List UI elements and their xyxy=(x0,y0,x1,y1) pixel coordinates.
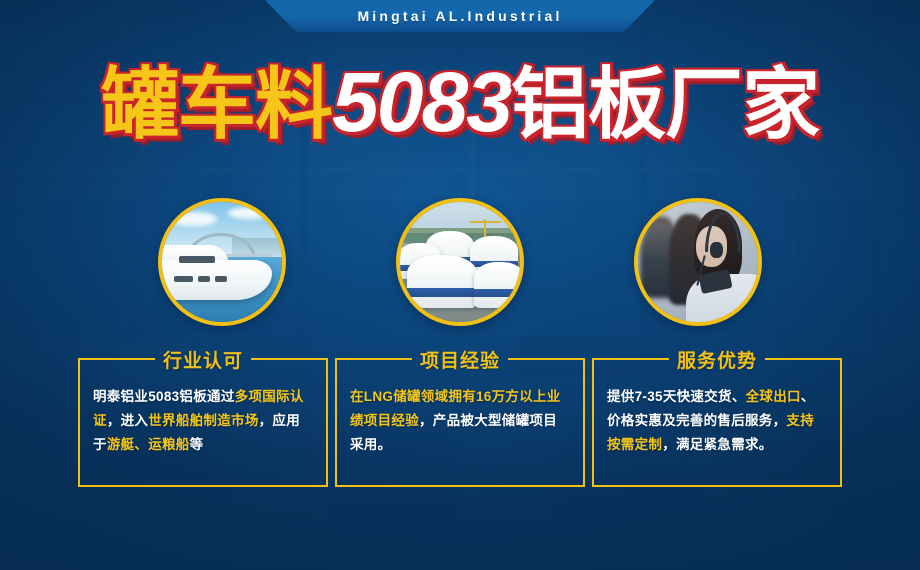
title-segment-gold: 罐车料 xyxy=(101,64,332,144)
yacht-window xyxy=(215,276,227,282)
plain-text: 等 xyxy=(190,437,204,452)
yacht-photo xyxy=(158,198,286,326)
plain-text: ，满足紧急需求。 xyxy=(662,437,772,452)
lng-tank-photo-content xyxy=(400,202,520,322)
rule-left xyxy=(335,358,412,360)
tank-band xyxy=(474,289,524,296)
title-segment-number: 5083 xyxy=(332,62,511,142)
rule-left xyxy=(592,358,669,360)
plain-text: 明泰铝业5083铝板通过 xyxy=(93,389,235,404)
rule-right xyxy=(508,358,585,360)
crane-jib xyxy=(470,221,501,223)
storage-tank xyxy=(407,255,477,308)
card-body: 在LNG储罐领域拥有16万方以上业绩项目经验，产品被大型储罐项目采用。 xyxy=(335,359,585,487)
rule-right xyxy=(251,358,328,360)
customer-service-photo-content xyxy=(638,202,758,322)
photo-row xyxy=(0,198,920,326)
yacht-window xyxy=(174,276,193,282)
card-title: 服务优势 xyxy=(677,346,757,373)
poster-canvas: Mingtai AL.Industrial 罐车料5083铝板厂家 xyxy=(0,0,920,570)
page-title: 罐车料5083铝板厂家 xyxy=(0,62,920,144)
customer-service-photo xyxy=(634,198,762,326)
blue-tint xyxy=(638,202,758,322)
plain-text: 提供7-35天快速交货、 xyxy=(607,389,746,404)
brand-banner: Mingtai AL.Industrial xyxy=(265,0,655,32)
card-text: 在LNG储罐领域拥有16万方以上业绩项目经验，产品被大型储罐项目采用。 xyxy=(350,385,570,457)
yacht-photo-content xyxy=(162,202,282,322)
card-title: 项目经验 xyxy=(420,346,500,373)
feature-card-project: 项目经验 在LNG储罐领域拥有16万方以上业绩项目经验，产品被大型储罐项目采用。 xyxy=(335,344,585,487)
lng-tank-photo xyxy=(396,198,524,326)
feature-card-industry: 行业认可 明泰铝业5083铝板通过多项国际认证，进入世界船舶制造市场，应用于游艇… xyxy=(78,344,328,487)
highlighted-text: 游艇、运粮船 xyxy=(107,437,190,452)
card-text: 明泰铝业5083铝板通过多项国际认证，进入世界船舶制造市场，应用于游艇、运粮船等 xyxy=(93,385,313,457)
yacht-window xyxy=(179,256,215,263)
card-text: 提供7-35天快速交货、全球出口、价格实惠及完善的售后服务，支持按需定制，满足紧… xyxy=(607,385,827,457)
highlighted-text: 世界船舶制造市场 xyxy=(148,413,258,428)
card-title: 行业认可 xyxy=(163,346,243,373)
brand-banner-label: Mingtai AL.Industrial xyxy=(357,8,562,24)
cloud xyxy=(228,207,271,219)
storage-tank xyxy=(474,262,524,308)
card-body: 提供7-35天快速交货、全球出口、价格实惠及完善的售后服务，支持按需定制，满足紧… xyxy=(592,359,842,487)
tank-band xyxy=(407,288,477,298)
rule-left xyxy=(78,358,155,360)
yacht-window xyxy=(198,276,210,282)
plain-text: ，进入 xyxy=(107,413,148,428)
rule-right xyxy=(765,358,842,360)
feature-card-row: 行业认可 明泰铝业5083铝板通过多项国际认证，进入世界船舶制造市场，应用于游艇… xyxy=(78,344,842,487)
card-body: 明泰铝业5083铝板通过多项国际认证，进入世界船舶制造市场，应用于游艇、运粮船等 xyxy=(78,359,328,487)
highlighted-text: 全球出口 xyxy=(746,389,801,404)
cloud xyxy=(169,212,217,226)
title-segment-white: 铝板厂家 xyxy=(511,64,819,144)
feature-card-service: 服务优势 提供7-35天快速交货、全球出口、价格实惠及完善的售后服务，支持按需定… xyxy=(592,344,842,487)
